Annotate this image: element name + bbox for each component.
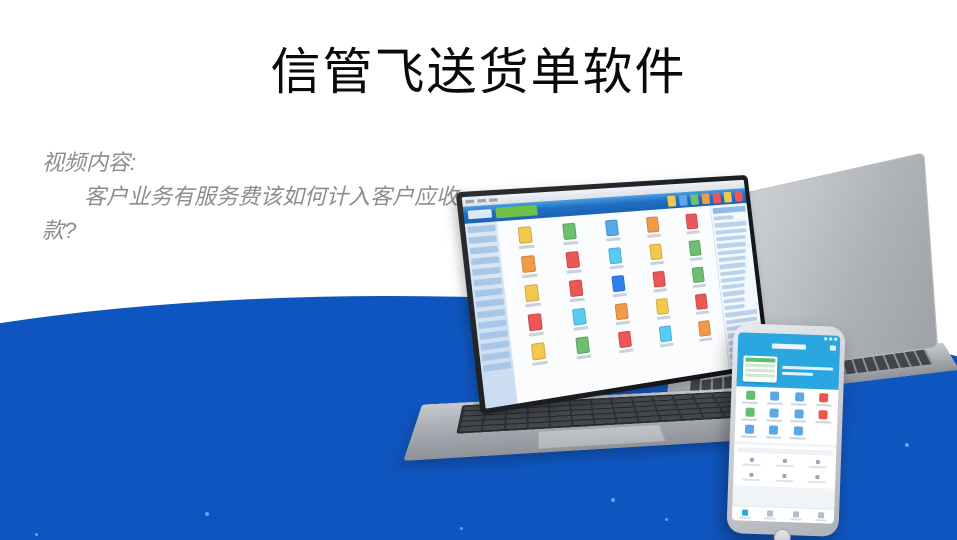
app-icon-glyph	[530, 342, 545, 361]
right-panel-list-item[interactable]	[718, 249, 746, 256]
phone-icon-label	[742, 418, 758, 421]
phone-app-title	[772, 343, 806, 349]
sidebar-item[interactable]	[483, 362, 511, 372]
app-icon-glyph	[655, 298, 669, 315]
right-panel-list-item[interactable]	[716, 235, 746, 242]
app-icon-glyph	[617, 331, 631, 349]
app-icon-label	[615, 321, 629, 326]
phone-icon-label	[790, 437, 806, 440]
phone-icon-glyph	[819, 393, 828, 402]
phone-icon-tile[interactable]	[763, 408, 786, 422]
front-laptop-lid	[456, 175, 771, 415]
app-icon-label	[569, 298, 584, 303]
signal-icon	[824, 337, 827, 340]
sidebar-item[interactable]	[467, 225, 496, 233]
toolbar-icon[interactable]	[701, 193, 710, 204]
app-icon-tile[interactable]	[507, 254, 549, 280]
keyboard-key[interactable]	[460, 426, 482, 432]
app-icon-label	[531, 361, 547, 366]
device-mockup-group	[410, 160, 957, 500]
sidebar-item[interactable]	[468, 235, 497, 244]
slide-canvas: 信管飞送货单软件 视频内容: 客户业务有服务费该如何计入客户应收 款?	[0, 0, 957, 540]
toolbar-icon[interactable]	[690, 194, 699, 205]
app-icon-label	[525, 303, 541, 308]
sidebar-item[interactable]	[482, 351, 510, 361]
right-panel-list-item[interactable]	[720, 269, 745, 276]
right-panel-list-item[interactable]	[715, 228, 746, 235]
right-panel-list-item[interactable]	[718, 255, 745, 262]
sidebar-item[interactable]	[477, 309, 506, 319]
right-panel-list-item[interactable]	[719, 262, 745, 269]
right-panel-list-item[interactable]	[721, 276, 745, 283]
hero-card-line	[745, 358, 775, 363]
phone-icon-tile[interactable]	[762, 425, 785, 439]
app-icon-tile[interactable]	[644, 297, 681, 322]
menu-item-placeholder	[477, 199, 486, 203]
hero-text-line	[782, 371, 813, 375]
phone-icon-glyph	[795, 392, 804, 401]
app-icon-tile[interactable]	[677, 239, 712, 262]
right-panel-list-item[interactable]	[717, 242, 746, 249]
right-panel-list-item[interactable]	[723, 297, 744, 304]
app-icon-label	[686, 230, 699, 234]
phone-icon-glyph	[819, 410, 828, 419]
hero-text-line	[782, 365, 833, 370]
app-icon-tile[interactable]	[562, 335, 602, 362]
app-icon-label	[566, 269, 581, 274]
app-icon-glyph	[694, 293, 707, 310]
keyboard-key[interactable]	[660, 415, 681, 420]
app-icon-tile[interactable]	[596, 246, 634, 270]
app-icon-tile[interactable]	[549, 222, 589, 246]
sidebar-item[interactable]	[474, 288, 503, 297]
app-icon-glyph	[527, 313, 542, 331]
sidebar-item[interactable]	[471, 256, 500, 265]
phone-icon-label	[742, 401, 758, 404]
keyboard-key[interactable]	[506, 424, 527, 430]
app-icon-tile[interactable]	[599, 274, 637, 299]
app-icon-label	[647, 234, 661, 238]
phone-icon-tile[interactable]	[738, 407, 761, 421]
phone-hero-banner	[736, 350, 839, 390]
phone-icon-glyph	[794, 409, 803, 418]
app-icon-glyph	[685, 213, 698, 229]
page-title: 信管飞送货单软件	[0, 44, 957, 100]
app-icon-glyph	[611, 275, 625, 292]
app-icon-label	[521, 274, 537, 279]
keyboard-key[interactable]	[638, 416, 659, 421]
app-icon-glyph	[649, 244, 663, 261]
phone-icon-glyph	[745, 425, 754, 434]
app-icon-tile[interactable]	[606, 329, 644, 355]
app-icon-tile[interactable]	[511, 283, 553, 309]
app-icon-glyph	[658, 325, 672, 342]
app-icon-glyph	[568, 279, 583, 297]
app-icon-glyph	[691, 267, 704, 284]
sidebar-item[interactable]	[478, 319, 506, 329]
app-icon-tile[interactable]	[647, 324, 684, 349]
app-icon-label	[563, 241, 578, 245]
phone-icon-label	[766, 419, 782, 422]
phone-hero-card	[743, 355, 778, 382]
app-icon-tile[interactable]	[602, 301, 640, 326]
app-icon-tile[interactable]	[640, 270, 677, 294]
app-icon-label	[689, 257, 702, 261]
app-icon-tile[interactable]	[504, 225, 546, 250]
phone-icon-tile[interactable]	[763, 391, 786, 405]
sidebar-item[interactable]	[481, 341, 509, 351]
app-icon-grid[interactable]	[504, 213, 722, 368]
sidebar-item[interactable]	[470, 246, 499, 255]
app-icon-tile[interactable]	[687, 319, 722, 344]
app-icon-glyph	[645, 216, 659, 233]
app-active-tab	[495, 205, 538, 218]
phone-icon-grid[interactable]	[735, 386, 839, 445]
phone-hero-text	[782, 365, 833, 376]
app-icon-glyph	[565, 251, 580, 268]
toolbar-icon[interactable]	[712, 192, 721, 203]
keyboard-key[interactable]	[573, 420, 594, 425]
right-panel-header	[713, 206, 746, 214]
phone-icon-glyph	[769, 425, 778, 434]
app-icon-tile[interactable]	[592, 219, 630, 243]
app-icon-tile[interactable]	[680, 266, 715, 290]
toolbar-icon[interactable]	[734, 191, 743, 202]
app-icon-label	[528, 332, 544, 337]
keyboard-key[interactable]	[595, 419, 616, 424]
app-icon-glyph	[520, 255, 535, 273]
phone-icon-glyph	[794, 426, 803, 435]
sidebar-item[interactable]	[472, 267, 501, 276]
app-icon-label	[612, 293, 627, 298]
phone-icon-label	[765, 436, 781, 439]
wifi-icon	[829, 337, 832, 340]
phone-icon-tile[interactable]	[812, 393, 835, 407]
app-icon-label	[696, 310, 709, 315]
phone-icon-glyph	[770, 391, 779, 400]
hamburger-menu-icon[interactable]	[830, 345, 836, 350]
battery-icon	[834, 338, 837, 341]
app-icon-label	[699, 337, 712, 342]
app-icon-label	[518, 245, 534, 249]
keyboard-key[interactable]	[551, 421, 572, 426]
app-body	[465, 203, 766, 409]
app-icon-label	[619, 348, 633, 353]
app-icon-glyph	[688, 240, 701, 256]
phone-icon-tile[interactable]	[787, 409, 810, 423]
app-icon-tile[interactable]	[637, 243, 674, 267]
toolbar-icon[interactable]	[667, 195, 676, 206]
toolbar-icon[interactable]	[723, 191, 732, 202]
front-laptop-screen	[462, 180, 766, 409]
app-icon-tile[interactable]	[552, 250, 592, 275]
app-icon-glyph	[517, 226, 532, 244]
phone-icon-label	[791, 403, 807, 406]
app-icon-glyph	[614, 303, 628, 320]
sidebar-item[interactable]	[479, 330, 507, 340]
phone-icon-tile[interactable]	[787, 426, 810, 440]
phone-icon-glyph	[770, 408, 779, 417]
app-icon-glyph	[575, 336, 590, 354]
app-icon-label	[573, 326, 588, 331]
right-panel-list-item[interactable]	[714, 221, 746, 228]
app-brand-logo	[468, 209, 493, 219]
app-icon-label	[653, 288, 667, 292]
app-icon-glyph	[652, 271, 666, 288]
app-main-panel	[497, 206, 729, 404]
app-icon-glyph	[524, 284, 539, 302]
keyboard-key[interactable]	[681, 414, 702, 419]
bottom-banner: Ϛ 信管飞软件演示视频 一站式解决方案，应用逐步深入、投入小见效快！	[0, 455, 957, 540]
keyboard-key[interactable]	[483, 425, 504, 431]
app-icon-glyph	[562, 223, 577, 240]
menu-item-placeholder	[489, 198, 498, 202]
app-icon-tile[interactable]	[517, 340, 558, 367]
app-icon-tile[interactable]	[634, 215, 671, 238]
phone-icon-label	[815, 421, 831, 424]
app-icon-label	[692, 284, 705, 288]
app-icon-label	[650, 261, 664, 265]
phone-icon-tile[interactable]	[738, 424, 761, 438]
right-panel-list-item[interactable]	[724, 304, 744, 311]
sidebar-item[interactable]	[476, 298, 505, 307]
right-panel-list-item[interactable]	[723, 290, 745, 297]
phone-icon-tile[interactable]	[812, 410, 835, 424]
app-icon-label	[656, 315, 670, 320]
app-icon-glyph	[608, 247, 622, 264]
app-icon-tile[interactable]	[556, 278, 596, 304]
app-icon-label	[606, 237, 621, 241]
right-panel-list-item[interactable]	[722, 283, 745, 290]
sidebar-item[interactable]	[473, 277, 502, 286]
hero-card-line	[745, 369, 775, 373]
app-icon-tile[interactable]	[559, 306, 599, 332]
phone-icon-tile[interactable]	[788, 392, 811, 406]
phone-icon-label	[816, 404, 832, 407]
phone-icon-tile[interactable]	[739, 390, 762, 404]
phone-icon-label	[741, 435, 757, 438]
app-icon-tile[interactable]	[674, 213, 710, 236]
phone-icon-glyph	[745, 408, 754, 417]
app-icon-glyph	[698, 320, 711, 337]
hero-card-line	[745, 374, 775, 378]
phone-icon-label	[767, 402, 783, 405]
right-panel-list-item[interactable]	[714, 215, 734, 221]
app-icon-label	[609, 265, 624, 269]
hero-card-line	[745, 364, 775, 368]
keyboard-key[interactable]	[703, 413, 724, 418]
front-laptop-trackpad	[538, 424, 666, 449]
keyboard-key[interactable]	[617, 418, 638, 423]
video-content-line-3: 款?	[42, 218, 76, 243]
app-icon-tile[interactable]	[683, 292, 718, 316]
app-icon-label	[576, 354, 591, 359]
keyboard-key[interactable]	[528, 422, 549, 427]
phone-icon-label	[791, 420, 807, 423]
phone-icon-glyph	[746, 391, 755, 400]
app-icon-glyph	[604, 220, 618, 237]
app-icon-label	[659, 343, 673, 348]
toolbar-icon[interactable]	[679, 194, 688, 205]
menu-item-placeholder	[465, 200, 474, 204]
app-icon-glyph	[572, 308, 587, 326]
app-icon-tile[interactable]	[514, 312, 556, 339]
